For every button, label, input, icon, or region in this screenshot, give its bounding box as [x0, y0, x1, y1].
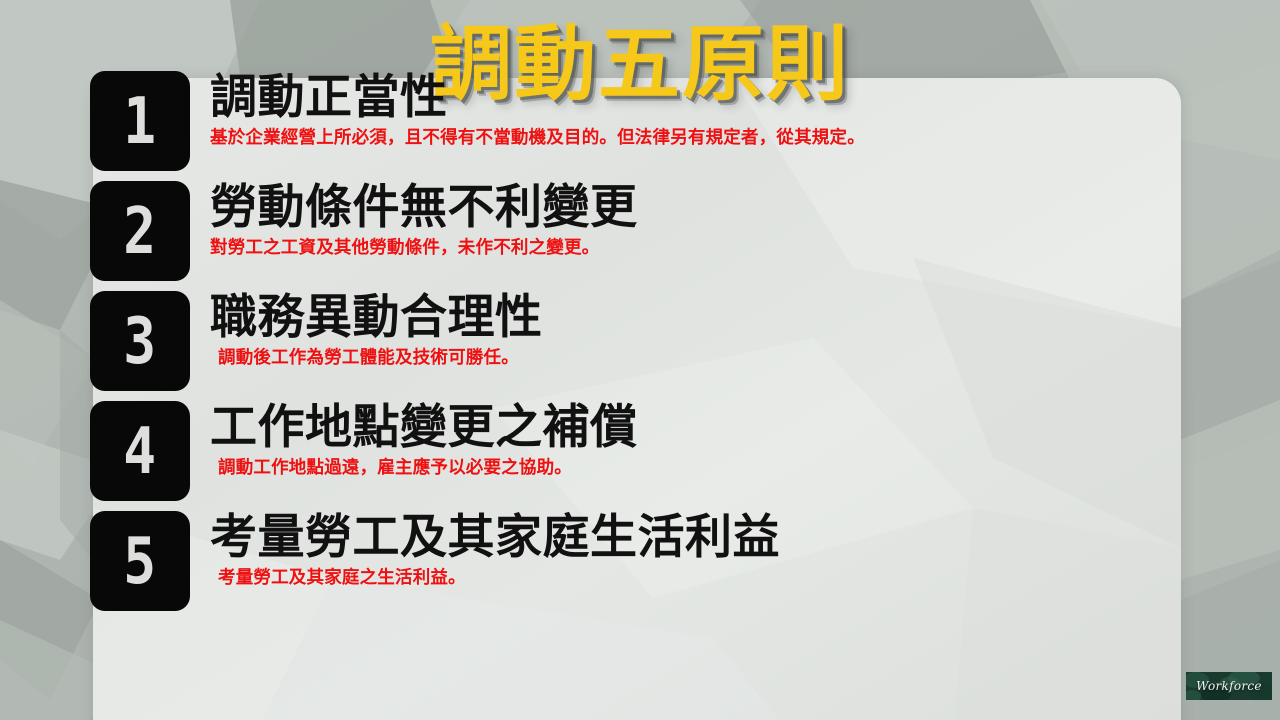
principle-subtitle-5: 考量勞工及其家庭之生活利益。: [218, 567, 1090, 588]
principle-row-5: 5 考量勞工及其家庭生活利益 考量勞工及其家庭之生活利益。: [90, 509, 1090, 616]
principle-title-5: 考量勞工及其家庭生活利益: [210, 509, 1090, 564]
principle-title-3: 職務異動合理性: [210, 289, 1090, 344]
principle-text-3: 職務異動合理性 調動後工作為勞工體能及技術可勝任。: [210, 289, 1090, 368]
principle-subtitle-4: 調動工作地點過遠，雇主應予以必要之協助。: [218, 457, 1090, 478]
principle-row-3: 3 職務異動合理性 調動後工作為勞工體能及技術可勝任。: [90, 289, 1090, 396]
principle-text-4: 工作地點變更之補償 調動工作地點過遠，雇主應予以必要之協助。: [210, 399, 1090, 478]
principle-number-1: 1: [124, 89, 157, 153]
workforce-logo-text: Workforce: [1186, 672, 1272, 700]
workforce-logo: Workforce: [1186, 672, 1272, 700]
slide-canvas: 調動五原則 1 調動正當性 基於企業經營上所必須，且不得有不當動機及目的。但法律…: [0, 0, 1280, 720]
principle-text-5: 考量勞工及其家庭生活利益 考量勞工及其家庭之生活利益。: [210, 509, 1090, 588]
principle-number-5: 5: [124, 529, 157, 593]
principle-number-badge-4: 4: [90, 401, 190, 501]
principle-number-badge-1: 1: [90, 71, 190, 171]
principle-number-badge-2: 2: [90, 181, 190, 281]
principle-row-4: 4 工作地點變更之補償 調動工作地點過遠，雇主應予以必要之協助。: [90, 399, 1090, 506]
principle-row-2: 2 勞動條件無不利變更 對勞工之工資及其他勞動條件，未作不利之變更。: [90, 179, 1090, 286]
principle-number-badge-5: 5: [90, 511, 190, 611]
principle-number-4: 4: [124, 419, 157, 483]
principle-number-badge-3: 3: [90, 291, 190, 391]
principle-title-4: 工作地點變更之補償: [210, 399, 1090, 454]
principle-subtitle-1: 基於企業經營上所必須，且不得有不當動機及目的。但法律另有規定者，從其規定。: [210, 127, 1090, 148]
principle-number-2: 2: [124, 199, 157, 263]
principle-text-1: 調動正當性 基於企業經營上所必須，且不得有不當動機及目的。但法律另有規定者，從其…: [210, 69, 1090, 148]
principle-row-1: 1 調動正當性 基於企業經營上所必須，且不得有不當動機及目的。但法律另有規定者，…: [90, 69, 1090, 176]
principle-subtitle-2: 對勞工之工資及其他勞動條件，未作不利之變更。: [210, 237, 1090, 258]
principles-list: 1 調動正當性 基於企業經營上所必須，且不得有不當動機及目的。但法律另有規定者，…: [90, 69, 1090, 619]
principle-subtitle-3: 調動後工作為勞工體能及技術可勝任。: [218, 347, 1090, 368]
principle-text-2: 勞動條件無不利變更 對勞工之工資及其他勞動條件，未作不利之變更。: [210, 179, 1090, 258]
principle-title-2: 勞動條件無不利變更: [210, 179, 1090, 234]
principle-title-1: 調動正當性: [210, 69, 1090, 124]
principle-number-3: 3: [124, 309, 157, 373]
